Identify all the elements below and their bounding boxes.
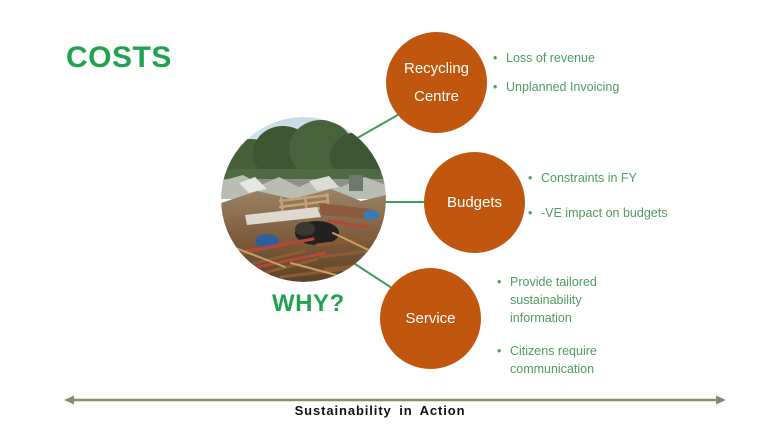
node-service-label: Service [405, 305, 455, 333]
bullet-text: Provide tailored sustainability informat… [510, 275, 597, 325]
bullets-service: • Provide tailored sustainability inform… [497, 274, 632, 395]
node-recycling-centre-label-line2: Centre [414, 83, 459, 111]
bullet-dot-icon: • [493, 50, 497, 68]
bullets-budgets: • Constraints in FY • -VE impact on budg… [528, 170, 728, 240]
bullet-dot-icon: • [497, 274, 501, 292]
bullet-item: • Loss of revenue [493, 50, 693, 68]
bullet-text: Unplanned Invoicing [506, 80, 619, 94]
footer-caption: Sustainability in Action [0, 403, 760, 418]
bullet-item: • Constraints in FY [528, 170, 728, 188]
bullet-item: • -VE impact on budgets [528, 205, 728, 223]
bullet-text: Constraints in FY [541, 171, 637, 185]
costs-heading: COSTS [66, 41, 172, 75]
bullet-item: • Unplanned Invoicing [493, 79, 693, 97]
node-service[interactable]: Service [380, 268, 481, 369]
node-recycling-centre-label-line1: Recycling [404, 55, 469, 83]
waste-photo-illustration [221, 117, 386, 282]
node-budgets-label: Budgets [447, 189, 502, 217]
bullet-dot-icon: • [528, 205, 532, 223]
bullet-dot-icon: • [497, 343, 501, 361]
bullet-text: -VE impact on budgets [541, 206, 667, 220]
bullet-dot-icon: • [493, 79, 497, 97]
slide-canvas: COSTS WHY? [0, 0, 760, 427]
bullet-text: Loss of revenue [506, 51, 595, 65]
node-budgets[interactable]: Budgets [424, 152, 525, 253]
bullet-dot-icon: • [528, 170, 532, 188]
bullet-item: • Provide tailored sustainability inform… [497, 274, 632, 327]
bullet-text: Citizens require communication [510, 344, 597, 376]
bullet-item: • Citizens require communication [497, 343, 632, 379]
why-heading: WHY? [272, 290, 345, 318]
waste-photo-circle [221, 117, 386, 282]
node-recycling-centre[interactable]: Recycling Centre [386, 32, 487, 133]
bullets-recycling-centre: • Loss of revenue • Unplanned Invoicing [493, 50, 693, 97]
